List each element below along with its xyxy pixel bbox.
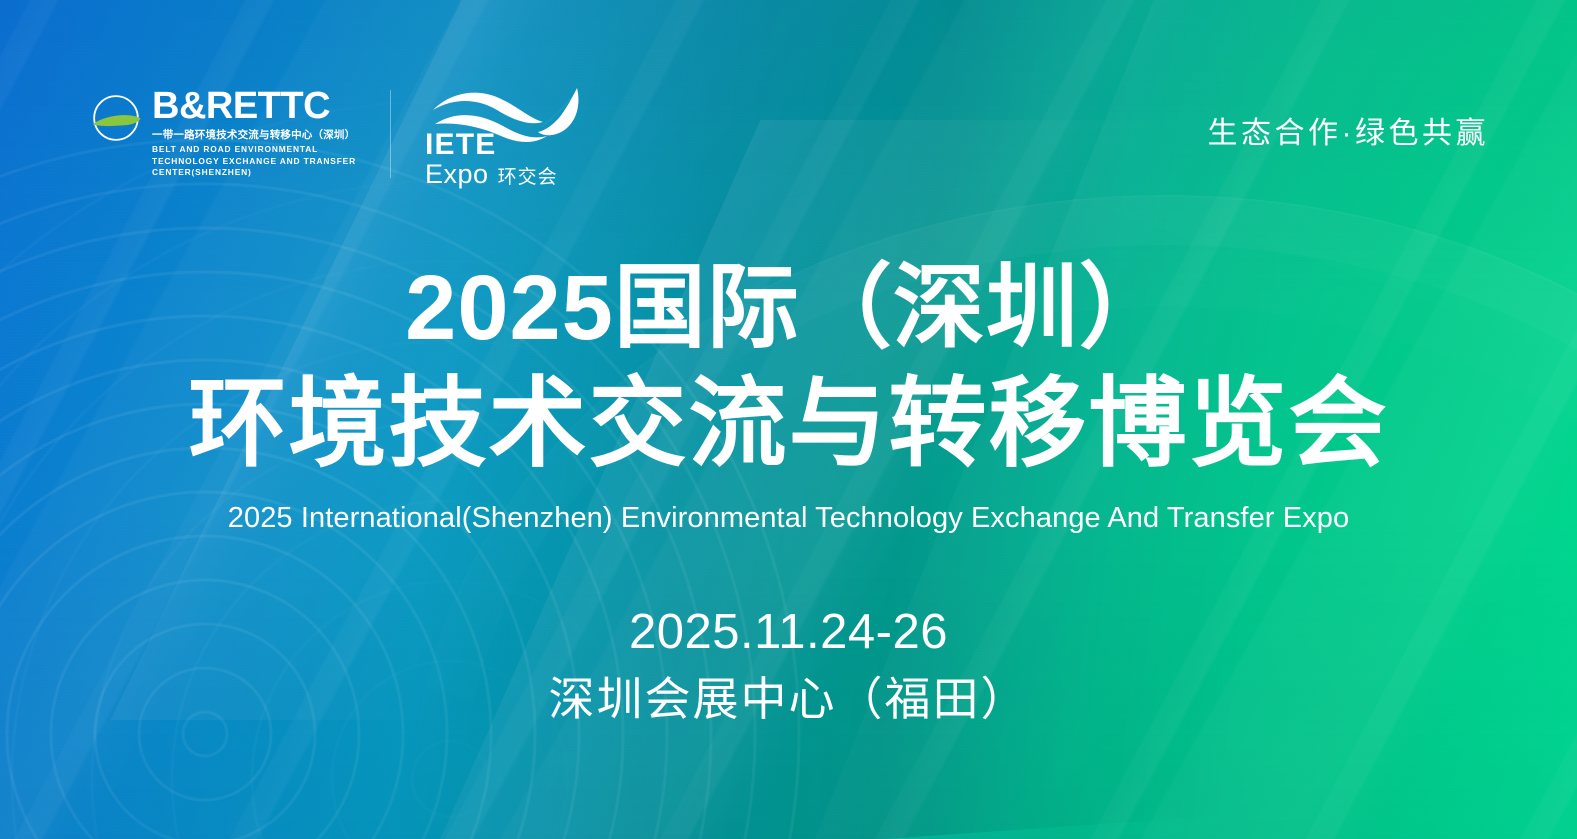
circle-with-green-band-icon bbox=[88, 90, 144, 146]
brettc-chinese-name: 一带一路环境技术交流与转移中心（深圳） bbox=[152, 127, 356, 142]
brettc-logo: B&RETTC 一带一路环境技术交流与转移中心（深圳） BELT AND ROA… bbox=[88, 86, 356, 178]
title-line-1: 2025国际（深圳） bbox=[0, 262, 1577, 354]
logo-divider bbox=[390, 90, 391, 178]
logo-group: B&RETTC 一带一路环境技术交流与转移中心（深圳） BELT AND ROA… bbox=[88, 86, 585, 186]
iete-chinese-text: 环交会 bbox=[498, 168, 558, 187]
iete-expo-text: Expo bbox=[425, 161, 489, 188]
iete-wordmark: IETE Expo 环交会 bbox=[425, 130, 558, 188]
title-line-2: 环境技术交流与转移博览会 bbox=[0, 374, 1577, 472]
event-venue: 深圳会展中心（福田） bbox=[0, 672, 1577, 727]
brettc-title: B&RETTC bbox=[152, 88, 356, 124]
title-english: 2025 International(Shenzhen) Environment… bbox=[0, 502, 1577, 535]
expo-poster: B&RETTC 一带一路环境技术交流与转移中心（深圳） BELT AND ROA… bbox=[0, 0, 1577, 839]
brettc-wordmark: B&RETTC 一带一路环境技术交流与转移中心（深圳） BELT AND ROA… bbox=[152, 86, 356, 178]
poster-tagline: 生态合作·绿色共赢 bbox=[1208, 108, 1490, 152]
title-block: 2025国际（深圳） 环境技术交流与转移博览会 2025 Internation… bbox=[0, 262, 1577, 535]
iete-sub-row: Expo 环交会 bbox=[425, 161, 558, 188]
event-details: 2025.11.24-26 深圳会展中心（福田） bbox=[0, 604, 1577, 727]
poster-header: B&RETTC 一带一路环境技术交流与转移中心（深圳） BELT AND ROA… bbox=[88, 86, 1489, 186]
brettc-english-name: BELT AND ROAD ENVIRONMENTAL TECHNOLOGY E… bbox=[152, 144, 356, 177]
iete-main-text: IETE bbox=[425, 130, 558, 160]
event-date: 2025.11.24-26 bbox=[0, 604, 1577, 662]
iete-expo-logo: IETE Expo 环交会 bbox=[425, 86, 585, 186]
